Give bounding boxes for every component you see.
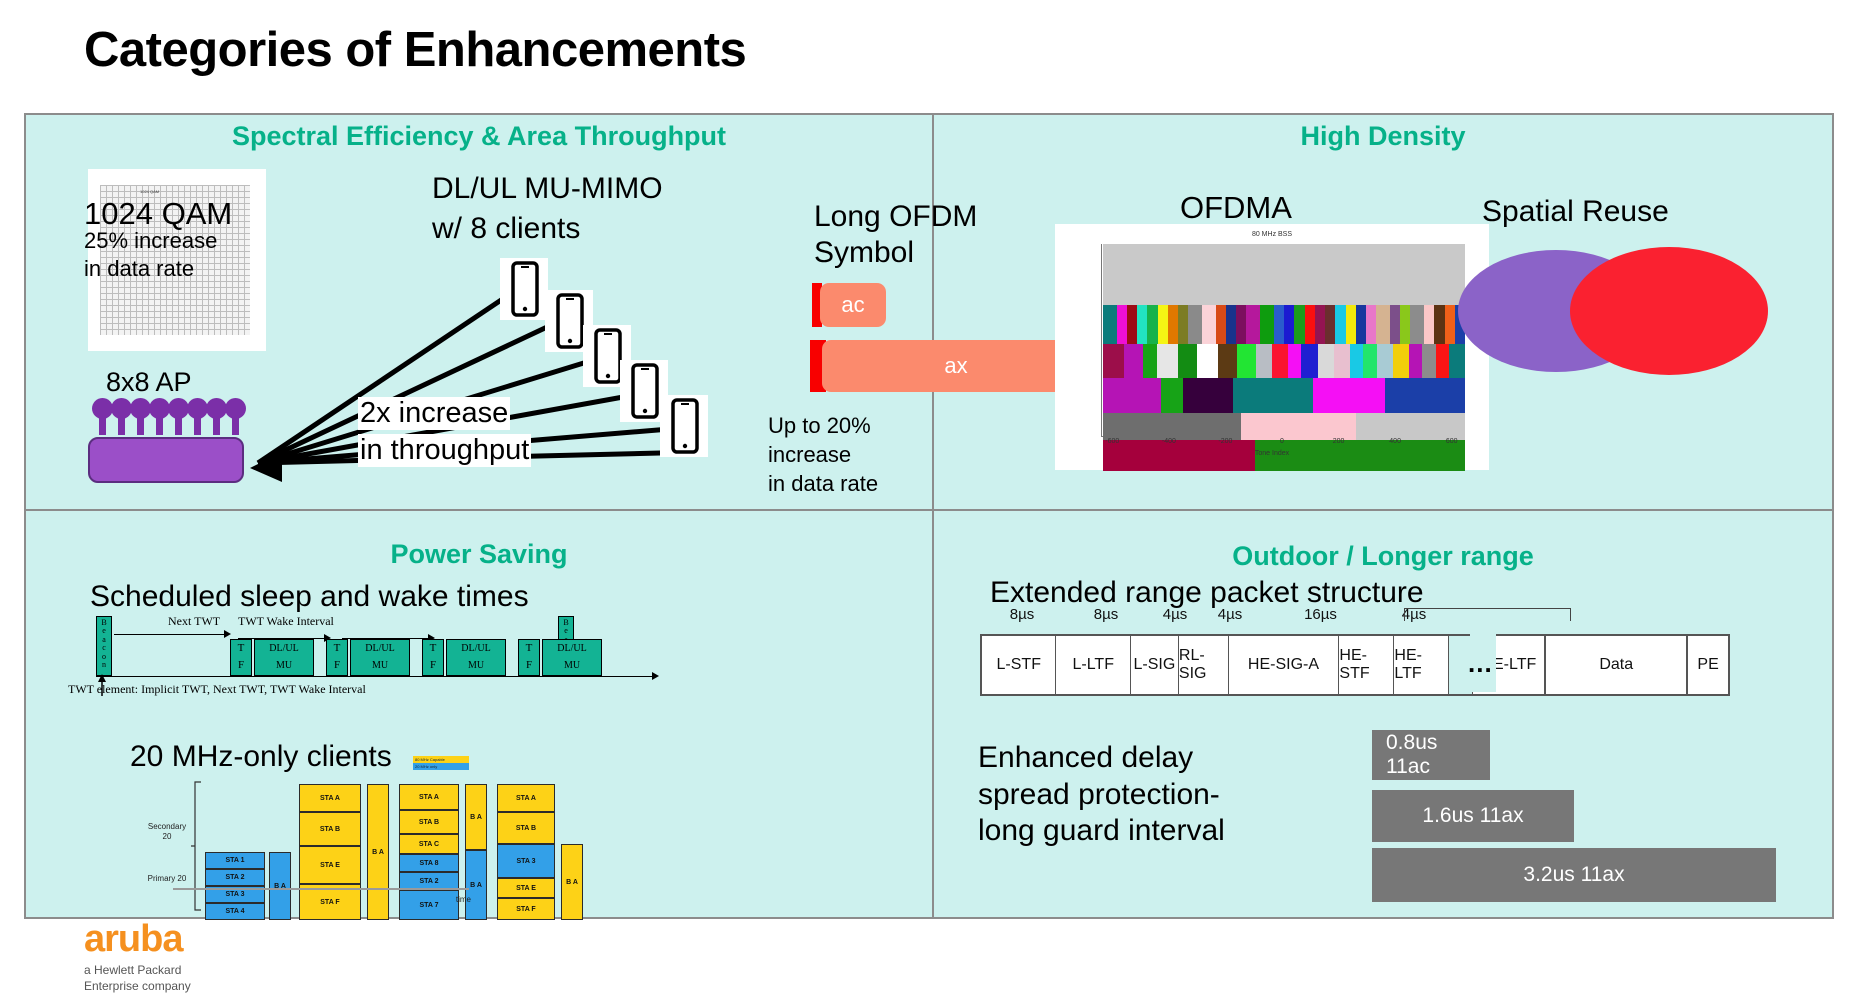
ap-antenna-dot [111, 398, 132, 419]
phone-icon [500, 258, 548, 320]
ax-symbol-bar: ax [822, 340, 1090, 392]
ofdma-title: OFDMA [1180, 190, 1292, 226]
packet-duration: 16µs [1258, 606, 1383, 623]
ofdma-ru-block [1301, 344, 1317, 379]
ofdma-ru-block [1409, 344, 1422, 379]
twt-next-twt-label: Next TWT [168, 614, 220, 629]
mhz-sta-block: STA B [399, 810, 459, 834]
ofdma-ru-block [1202, 305, 1216, 343]
slide-root: Categories of Enhancements Spectral Effi… [0, 0, 1855, 1002]
ofdma-ru-block [1178, 344, 1197, 379]
ofdma-x-tick: -200 [1218, 438, 1232, 445]
ofdma-x-tick: -400 [1162, 438, 1176, 445]
ofdma-ru-block [1325, 305, 1335, 343]
ofdma-ru-block [1161, 378, 1183, 413]
guard-interval-text: Enhanced delay spread protection- long g… [978, 740, 1225, 850]
ofdma-ru-block [1260, 305, 1274, 343]
ofdma-ru-block [1356, 413, 1465, 440]
gi-08us-line1: 0.8us [1386, 731, 1437, 755]
ofdma-x-tick: -600 [1105, 438, 1119, 445]
ofdma-ru-row [1103, 378, 1465, 413]
twt-trigger-frame: TF [326, 639, 348, 676]
twt-caption: TWT element: Implicit TWT, Next TWT, TWT… [68, 682, 366, 697]
mhz-sta-block: STA B [497, 812, 555, 844]
ofdma-ru-block [1305, 305, 1315, 343]
throughput-increase-line2: in throughput [358, 434, 531, 467]
page-title: Categories of Enhancements [84, 22, 746, 78]
qam-chart-caption: 1024 QAM [140, 189, 159, 194]
twt-beacon-start: Beacon [96, 616, 112, 676]
gi-08us-line2: 11ac [1386, 755, 1430, 779]
mhz-sta-block: STA 1 [205, 852, 265, 869]
ofdma-ru-row [1103, 413, 1465, 440]
mhz-sta-block: B A [561, 844, 583, 920]
ofdma-ru-block [1103, 305, 1117, 343]
ofdma-ru-block [1241, 413, 1357, 440]
ofdma-ru-block [1422, 344, 1435, 379]
twt-timeline-axis [96, 676, 652, 677]
ofdma-x-tick: 600 [1446, 438, 1458, 445]
spatial-reuse-circle-red [1570, 247, 1768, 375]
twt-next-twt-arrowhead [224, 630, 231, 638]
ap-antenna-dot [168, 398, 189, 419]
ofdma-x-axis-label: Tone Index [1055, 450, 1489, 457]
packet-field: HE-SIG-A [1229, 636, 1340, 694]
mhz-clients-title: 20 MHz-only clients [130, 740, 392, 774]
packet-field: HE-LTF [1394, 636, 1449, 694]
mhz-sta-block: STA 8 [399, 854, 459, 872]
guard-text-line1: Enhanced delay [978, 740, 1225, 777]
ofdma-ru-block [1346, 305, 1356, 343]
mhz-time-label: time [456, 895, 471, 904]
ofdma-ru-block [1449, 344, 1465, 379]
twt-wake-interval-label: TWT Wake Interval [238, 614, 334, 629]
ofdma-ru-block [1445, 305, 1455, 343]
throughput-increase-line1: 2x increase [358, 397, 510, 430]
ofdma-ru-block [1103, 378, 1161, 413]
packet-field: L-STF [982, 636, 1056, 694]
density-heading: High Density [934, 121, 1832, 152]
ofdma-x-tick: 400 [1389, 438, 1401, 445]
ofdma-ru-block [1366, 305, 1376, 343]
mhz-sta-block: B A [269, 852, 291, 920]
mhz-primary-label: Primary 20 [145, 874, 189, 884]
packet-field: L-LTF [1056, 636, 1130, 694]
ofdma-ru-block [1216, 305, 1226, 343]
ac-symbol-bar: ac [820, 283, 886, 327]
packet-field: PE [1687, 636, 1728, 694]
phone-icon [660, 395, 708, 457]
mhz-sta-block: B A [465, 784, 487, 850]
ofdma-ru-block [1147, 305, 1157, 343]
ofdma-ru-block [1334, 344, 1350, 379]
ofdma-chart: 80 MHz BSS -600-400-2000200400600 Tone I… [1055, 224, 1489, 470]
ofdma-ru-block [1294, 305, 1304, 343]
guard-interval-bar-08us: 0.8us 11ac [1372, 730, 1490, 780]
guard-text-line2: spread protection- [978, 777, 1225, 814]
ofdma-ru-block [1188, 305, 1202, 343]
twt-next-twt-arrow [114, 634, 226, 635]
mhz-sta-block: B A [367, 784, 389, 920]
ofdma-ru-block [1272, 344, 1288, 379]
ofdma-chart-title: 80 MHz BSS [1055, 231, 1489, 238]
ofdma-ru-row [1103, 305, 1465, 343]
long-ofdm-title-line1: Long OFDM [814, 200, 977, 234]
qam-subtitle-2: in data rate [84, 256, 194, 282]
ap-antenna-dot [187, 398, 208, 419]
mhz-sta-block: STA E [299, 846, 361, 884]
guard-text-line3: long guard interval [978, 813, 1225, 850]
packet-field: Data [1545, 636, 1687, 694]
twt-trigger-frame: TF [518, 639, 540, 676]
ofdma-ru-block [1318, 344, 1334, 379]
long-ofdm-title-line2: Symbol [814, 236, 914, 270]
ofdma-ru-block [1183, 378, 1234, 413]
ofdma-ru-block [1103, 244, 1465, 305]
mhz-brace-icon [189, 780, 203, 922]
ofdma-ru-block [1218, 344, 1237, 379]
twt-dl-ul-mu-block: DL/ULMU [254, 639, 314, 676]
power-heading: Power Saving [26, 539, 932, 570]
ofdma-ru-block [1103, 413, 1241, 440]
ofdma-ru-row [1103, 244, 1465, 305]
ofdma-ru-block [1284, 305, 1294, 343]
spatial-reuse-title: Spatial Reuse [1482, 195, 1669, 229]
packet-duration: 4µs [1202, 606, 1258, 623]
ofdma-ru-block [1103, 344, 1124, 379]
mhz-clients-chart: Secondary 20 Primary 20 STA 1STA 2STA 3S… [145, 770, 475, 902]
packet-field: RL-SIG [1179, 636, 1229, 694]
ap-antenna-dot [149, 398, 170, 419]
guard-interval-bar-16us: 1.6us 11ax [1372, 790, 1574, 842]
ofdma-ru-block [1117, 305, 1127, 343]
twt-trigger-frame: TF [230, 639, 252, 676]
ofdma-resource-units [1103, 244, 1465, 436]
long-ofdm-note-line2: increase [768, 442, 851, 468]
ofdma-ru-block [1390, 305, 1400, 343]
mhz-legend-item-80: 80 MHz Capable [413, 756, 469, 763]
ofdma-ru-block [1393, 344, 1409, 379]
twt-dl-ul-mu-block: DL/ULMU [350, 639, 410, 676]
ofdma-x-tick: 200 [1333, 438, 1345, 445]
ap-label: 8x8 AP [106, 367, 192, 398]
ofdma-ru-block [1274, 305, 1284, 343]
logo-wordmark: aruba [84, 920, 314, 958]
mhz-secondary-label: Secondary 20 [145, 822, 189, 842]
twt-axis-arrowhead [652, 672, 659, 680]
mhz-sta-block: STA B [299, 812, 361, 846]
mhz-legend: 80 MHz Capable 20 MHz only [413, 756, 469, 770]
ap-antenna-dot [92, 398, 113, 419]
ofdma-ru-block [1233, 378, 1313, 413]
ofdma-ru-block [1178, 305, 1188, 343]
mhz-time-axis [173, 888, 469, 890]
mhz-sta-block: STA C [399, 834, 459, 854]
packet-field: L-SIG [1131, 636, 1179, 694]
ofdma-ru-block [1376, 305, 1390, 343]
ofdma-ru-block [1385, 378, 1465, 413]
mhz-sta-block: STA A [299, 784, 361, 812]
mhz-legend-item-20: 20 MHz only [413, 763, 469, 770]
packet-duration: 4µs [1148, 606, 1202, 623]
twt-dl-ul-mu-block: DL/ULMU [542, 639, 602, 676]
ofdma-ru-block [1400, 305, 1410, 343]
mhz-sta-block: STA 7 [399, 890, 459, 920]
ofdma-ru-row [1103, 344, 1465, 379]
mhz-sta-block: STA 3 [497, 844, 555, 878]
packet-structure-title: Extended range packet structure [990, 576, 1424, 610]
ap-antenna-dot [225, 398, 246, 419]
ofdma-ru-block [1143, 344, 1156, 379]
ofdma-ru-block [1356, 305, 1366, 343]
ofdma-ru-block [1158, 305, 1168, 343]
ofdma-ru-block [1350, 344, 1363, 379]
ap-antenna-dot [130, 398, 151, 419]
mhz-sta-block: B A [465, 850, 487, 920]
ofdma-ru-block [1335, 305, 1345, 343]
ofdma-ru-block [1410, 305, 1424, 343]
qam-subtitle-1: 25% increase [84, 228, 217, 254]
outdoor-heading: Outdoor / Longer range [934, 541, 1832, 572]
packet-duration: 8µs [1064, 606, 1148, 623]
ofdma-x-axis-ticks: -600-400-2000200400600 [1101, 438, 1463, 448]
ofdma-ru-block [1157, 344, 1178, 379]
long-ofdm-note-line3: in data rate [768, 471, 878, 497]
ofdma-plot-area [1101, 244, 1464, 437]
packet-ellipsis: ... [1468, 648, 1493, 679]
logo-sub-line1: a Hewlett Packard [84, 962, 314, 978]
ofdma-ru-block [1363, 344, 1376, 379]
mhz-sta-block: STA A [399, 784, 459, 810]
ap-antenna-dot [206, 398, 227, 419]
ofdma-ru-block [1226, 305, 1236, 343]
ofdma-ru-block [1127, 305, 1137, 343]
packet-field: HE-STF [1339, 636, 1394, 694]
ofdma-ru-block [1315, 305, 1325, 343]
spectral-heading: Spectral Efficiency & Area Throughput [26, 121, 932, 152]
qam-title: 1024 QAM [84, 196, 232, 232]
ofdma-ru-block [1237, 344, 1256, 379]
mhz-sta-block: STA A [497, 784, 555, 812]
ofdma-ru-block [1377, 344, 1393, 379]
mhz-sta-block: STA 4 [205, 903, 265, 920]
ofdma-ru-block [1137, 305, 1147, 343]
ofdma-ru-block [1236, 305, 1246, 343]
packet-duration: 8µs [980, 606, 1064, 623]
ofdma-ru-block [1256, 344, 1272, 379]
ofdma-x-tick: 0 [1280, 438, 1284, 445]
aruba-logo: aruba a Hewlett Packard Enterprise compa… [84, 920, 314, 994]
packet-ltf-brace [1404, 608, 1571, 621]
twt-dl-ul-mu-block: DL/ULMU [446, 639, 506, 676]
ofdma-ru-block [1124, 344, 1143, 379]
packet-structure-diagram: L-STFL-LTFL-SIGRL-SIGHE-SIG-AHE-STFHE-LT… [980, 634, 1730, 696]
long-ofdm-note-line1: Up to 20% [768, 413, 871, 439]
ofdma-ru-block [1436, 344, 1449, 379]
ofdma-ru-block [1424, 305, 1434, 343]
ap-device-body [88, 437, 244, 483]
mhz-sta-block: STA E [497, 878, 555, 898]
guard-interval-bar-32us: 3.2us 11ax [1372, 848, 1776, 902]
ofdma-ru-block [1313, 378, 1385, 413]
logo-sub-line2: Enterprise company [84, 978, 314, 994]
mhz-sta-block: STA 2 [205, 869, 265, 886]
ofdma-ru-block [1197, 344, 1218, 379]
mhz-sta-block: STA F [497, 898, 555, 920]
ofdma-ru-block [1288, 344, 1301, 379]
mumimo-title-line2: w/ 8 clients [432, 212, 580, 246]
ofdma-ru-block [1168, 305, 1178, 343]
ofdma-ru-block [1434, 305, 1444, 343]
mumimo-title-line1: DL/UL MU-MIMO [432, 172, 663, 206]
twt-trigger-frame: TF [422, 639, 444, 676]
ofdma-ru-block [1246, 305, 1260, 343]
